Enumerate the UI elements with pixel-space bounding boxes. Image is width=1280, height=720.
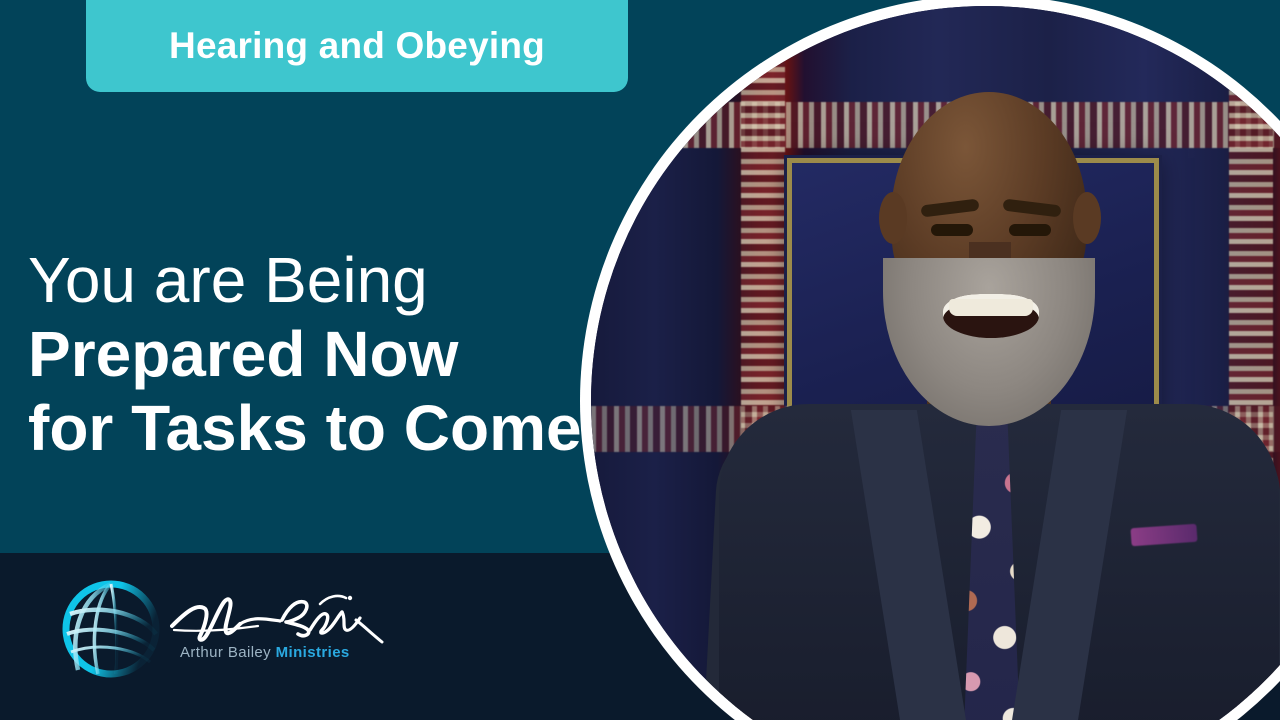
beard (883, 258, 1095, 426)
ear-left (879, 192, 907, 244)
thumbnail-stage: הי (0, 0, 1280, 720)
eye-right (1009, 224, 1051, 236)
headline-line-1: You are Being (28, 243, 588, 317)
signature-mark (170, 586, 388, 648)
pulpit-scene: הי (591, 6, 1280, 720)
eye-left (931, 224, 973, 236)
teeth (949, 299, 1033, 316)
logo-lockup: Arthur Bailey Ministries (58, 572, 388, 690)
ear-right (1073, 192, 1101, 244)
signature-dot (348, 596, 352, 600)
speaker-figure (591, 6, 1280, 720)
portrait-circle: הי (580, 0, 1280, 720)
globe-icon (58, 576, 164, 682)
headline-line-2: Prepared Now (28, 317, 588, 391)
series-badge: Hearing and Obeying (86, 0, 628, 92)
headline-line-3: for Tasks to Come (28, 391, 588, 465)
wordmark-name: Arthur Bailey (180, 644, 271, 661)
series-badge-label: Hearing and Obeying (169, 25, 545, 67)
headline-block: You are Being Prepared Now for Tasks to … (28, 243, 588, 465)
portrait-image: הי (591, 6, 1280, 720)
wordmark: Arthur Bailey Ministries (180, 644, 350, 661)
wordmark-accent: Ministries (276, 644, 350, 661)
